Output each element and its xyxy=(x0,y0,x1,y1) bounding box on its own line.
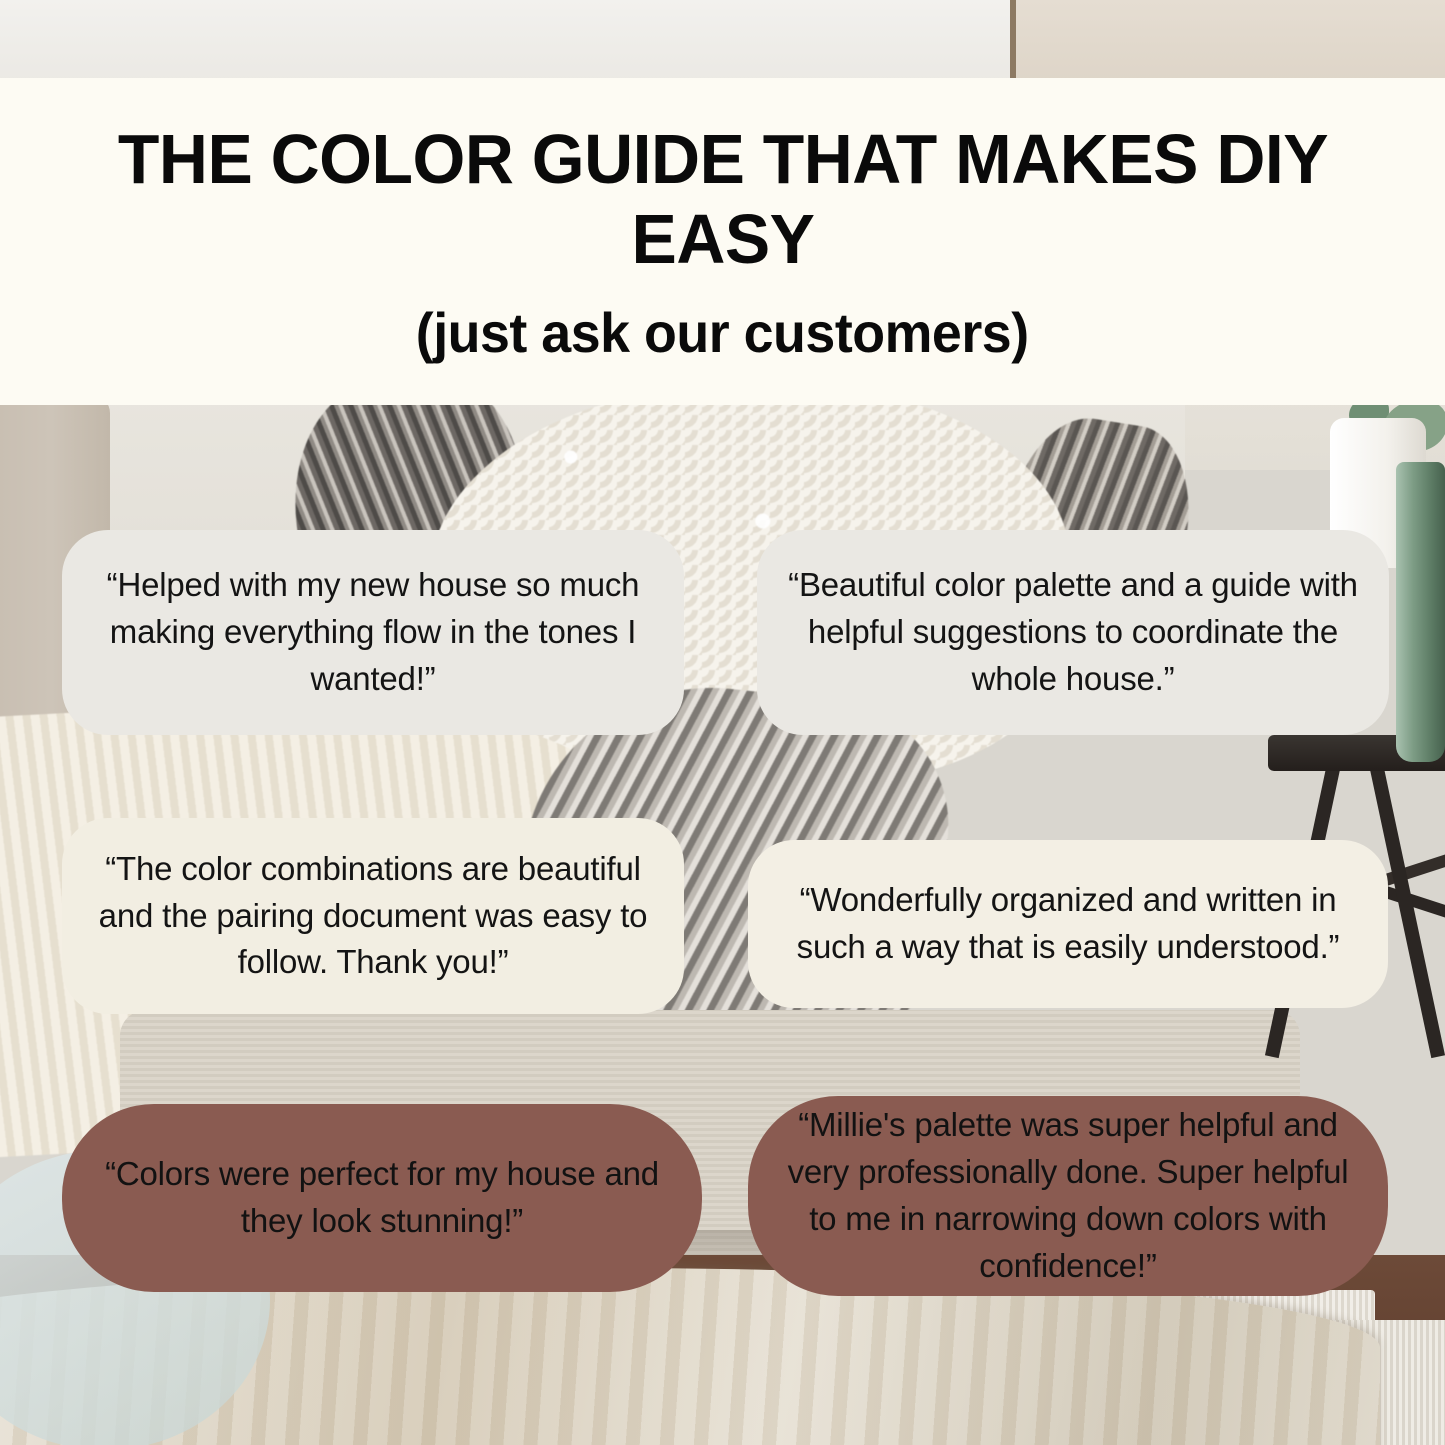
testimonial-card-1: “Helped with my new house so much making… xyxy=(62,530,684,735)
testimonial-quote: “Wonderfully organized and written in su… xyxy=(778,877,1358,971)
testimonial-quote: “Millie's palette was super helpful and … xyxy=(778,1102,1358,1289)
header-band: THE COLOR GUIDE THAT MAKES DIY EASY (jus… xyxy=(0,78,1445,405)
testimonial-card-6: “Millie's palette was super helpful and … xyxy=(748,1096,1388,1296)
framed-art xyxy=(1010,0,1445,82)
testimonial-quote: “Beautiful color palette and a guide wit… xyxy=(787,562,1359,703)
testimonial-card-5: “Colors were perfect for my house and th… xyxy=(62,1104,702,1292)
page-subtitle: (just ask our customers) xyxy=(416,302,1029,364)
page-title: THE COLOR GUIDE THAT MAKES DIY EASY xyxy=(116,120,1329,280)
testimonial-quote: “Helped with my new house so much making… xyxy=(92,562,654,703)
testimonial-card-3: “The color combinations are beautiful an… xyxy=(62,818,684,1014)
wall-upper-left xyxy=(0,0,1012,82)
testimonial-graphic: THE COLOR GUIDE THAT MAKES DIY EASY (jus… xyxy=(0,0,1445,1445)
testimonial-card-4: “Wonderfully organized and written in su… xyxy=(748,840,1388,1008)
green-glass-vase xyxy=(1396,462,1445,762)
testimonial-card-2: “Beautiful color palette and a guide wit… xyxy=(757,530,1389,735)
testimonial-quote: “Colors were perfect for my house and th… xyxy=(92,1151,672,1245)
testimonial-quote: “The color combinations are beautiful an… xyxy=(92,846,654,987)
